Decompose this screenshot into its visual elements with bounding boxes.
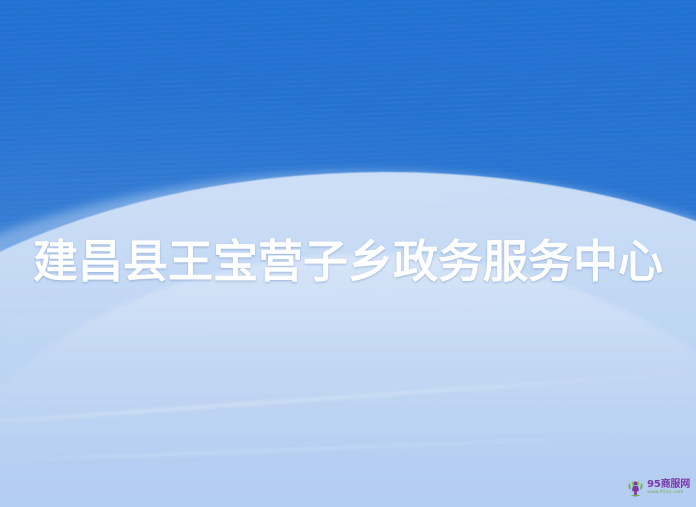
people-figure-icon bbox=[627, 478, 644, 497]
wispy-highlight-line bbox=[0, 366, 696, 426]
watermark-site-name: 95商服网 bbox=[647, 480, 690, 490]
swoosh-highlight-ridge bbox=[0, 254, 696, 507]
watermark-site-url: www.95xx.com bbox=[647, 491, 684, 496]
watermark-text-block: 95商服网 www.95xx.com bbox=[647, 480, 690, 496]
upper-light-sweep bbox=[0, 0, 696, 355]
site-watermark: 95商服网 www.95xx.com bbox=[627, 478, 690, 497]
wispy-highlight-line-secondary bbox=[0, 430, 696, 464]
government-service-center-banner: 建昌县王宝营子乡政务服务中心 95商服网 www.95xx.com bbox=[0, 0, 696, 507]
watermark-logo bbox=[627, 478, 644, 497]
banner-title: 建昌县王宝营子乡政务服务中心 bbox=[0, 236, 696, 288]
soft-background-swoosh bbox=[0, 172, 696, 507]
main-light-swoosh bbox=[0, 172, 696, 507]
